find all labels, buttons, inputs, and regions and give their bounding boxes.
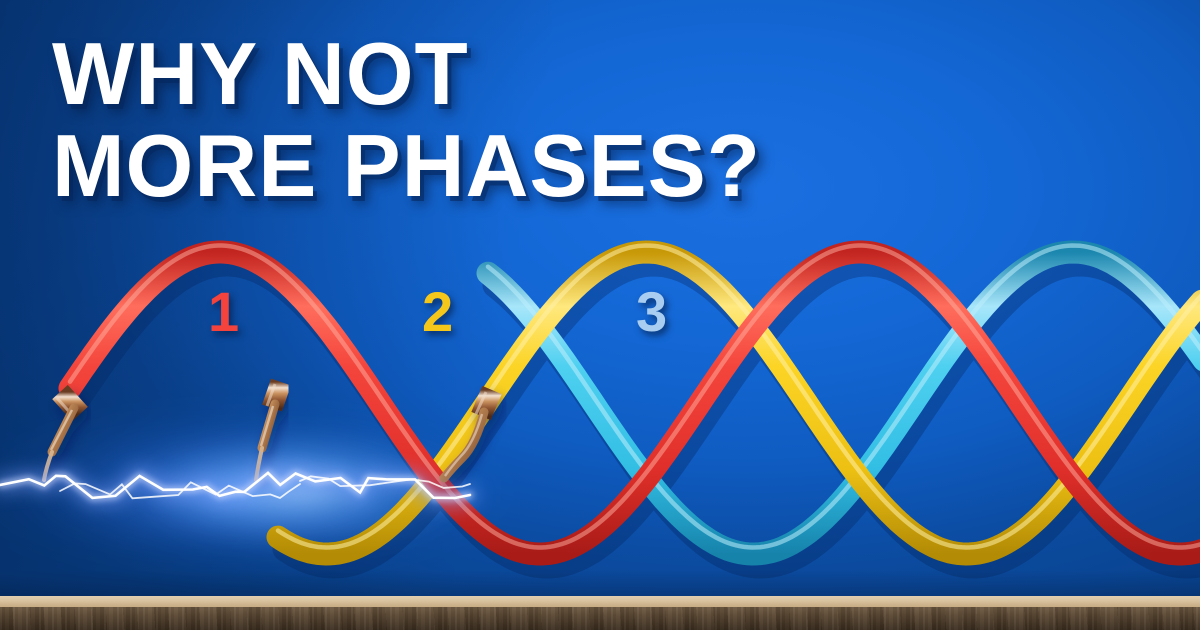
phase-label-3: 3 <box>636 284 667 340</box>
table-cast-shadow <box>0 570 1200 596</box>
table-edge <box>0 596 1200 607</box>
electric-arc <box>0 473 470 498</box>
wave-phase-2 <box>278 246 1200 555</box>
graphic-canvas: WHY NOT MORE PHASES? 1 2 3 <box>0 0 1200 630</box>
three-phase-wave-illustration <box>0 0 1200 630</box>
table-grain <box>0 607 1200 630</box>
phase-label-1: 1 <box>208 284 239 340</box>
wooden-table <box>0 596 1200 630</box>
wire-end-phase-1 <box>44 392 80 480</box>
phase-label-2: 2 <box>422 284 453 340</box>
